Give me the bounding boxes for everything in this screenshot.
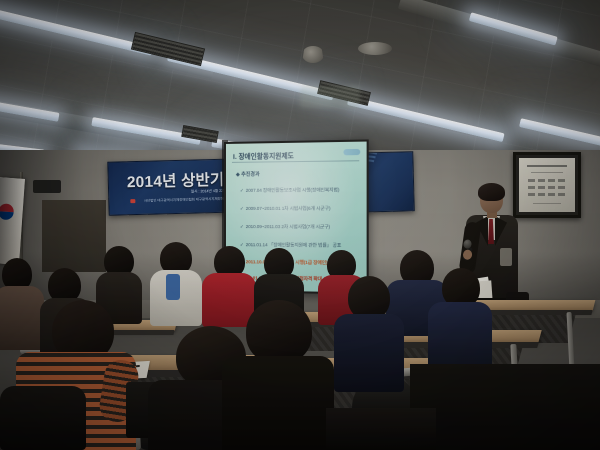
audience-member-front-center bbox=[222, 300, 334, 450]
audience-member-back-2 bbox=[150, 242, 202, 322]
smoke-detector-icon bbox=[358, 42, 392, 55]
wall-mounted-unit bbox=[33, 180, 61, 193]
shirt-graphic bbox=[166, 274, 180, 300]
torso bbox=[0, 386, 86, 450]
equipment-cabinet bbox=[500, 248, 512, 266]
presenter-hand bbox=[462, 249, 472, 260]
seminar-room-photo: 2014년 상반기 활 일시 : 2014년 4월 22일(화) 09: 사단법… bbox=[0, 0, 600, 450]
foreground-shadow-right bbox=[410, 364, 600, 450]
ceiling-stain bbox=[300, 86, 360, 108]
presenter-hair bbox=[478, 183, 505, 201]
audience-member-front-left-low bbox=[0, 386, 86, 450]
audience-member-mid-4 bbox=[428, 268, 492, 368]
torso-navy-jacket bbox=[334, 314, 404, 392]
head-hair bbox=[246, 300, 312, 364]
ceiling-speaker-icon bbox=[302, 46, 324, 63]
foreground-shadow-center bbox=[326, 408, 436, 450]
audience-member-mid-3 bbox=[334, 276, 404, 386]
banner-org-logo bbox=[130, 199, 135, 203]
torso bbox=[222, 356, 334, 450]
